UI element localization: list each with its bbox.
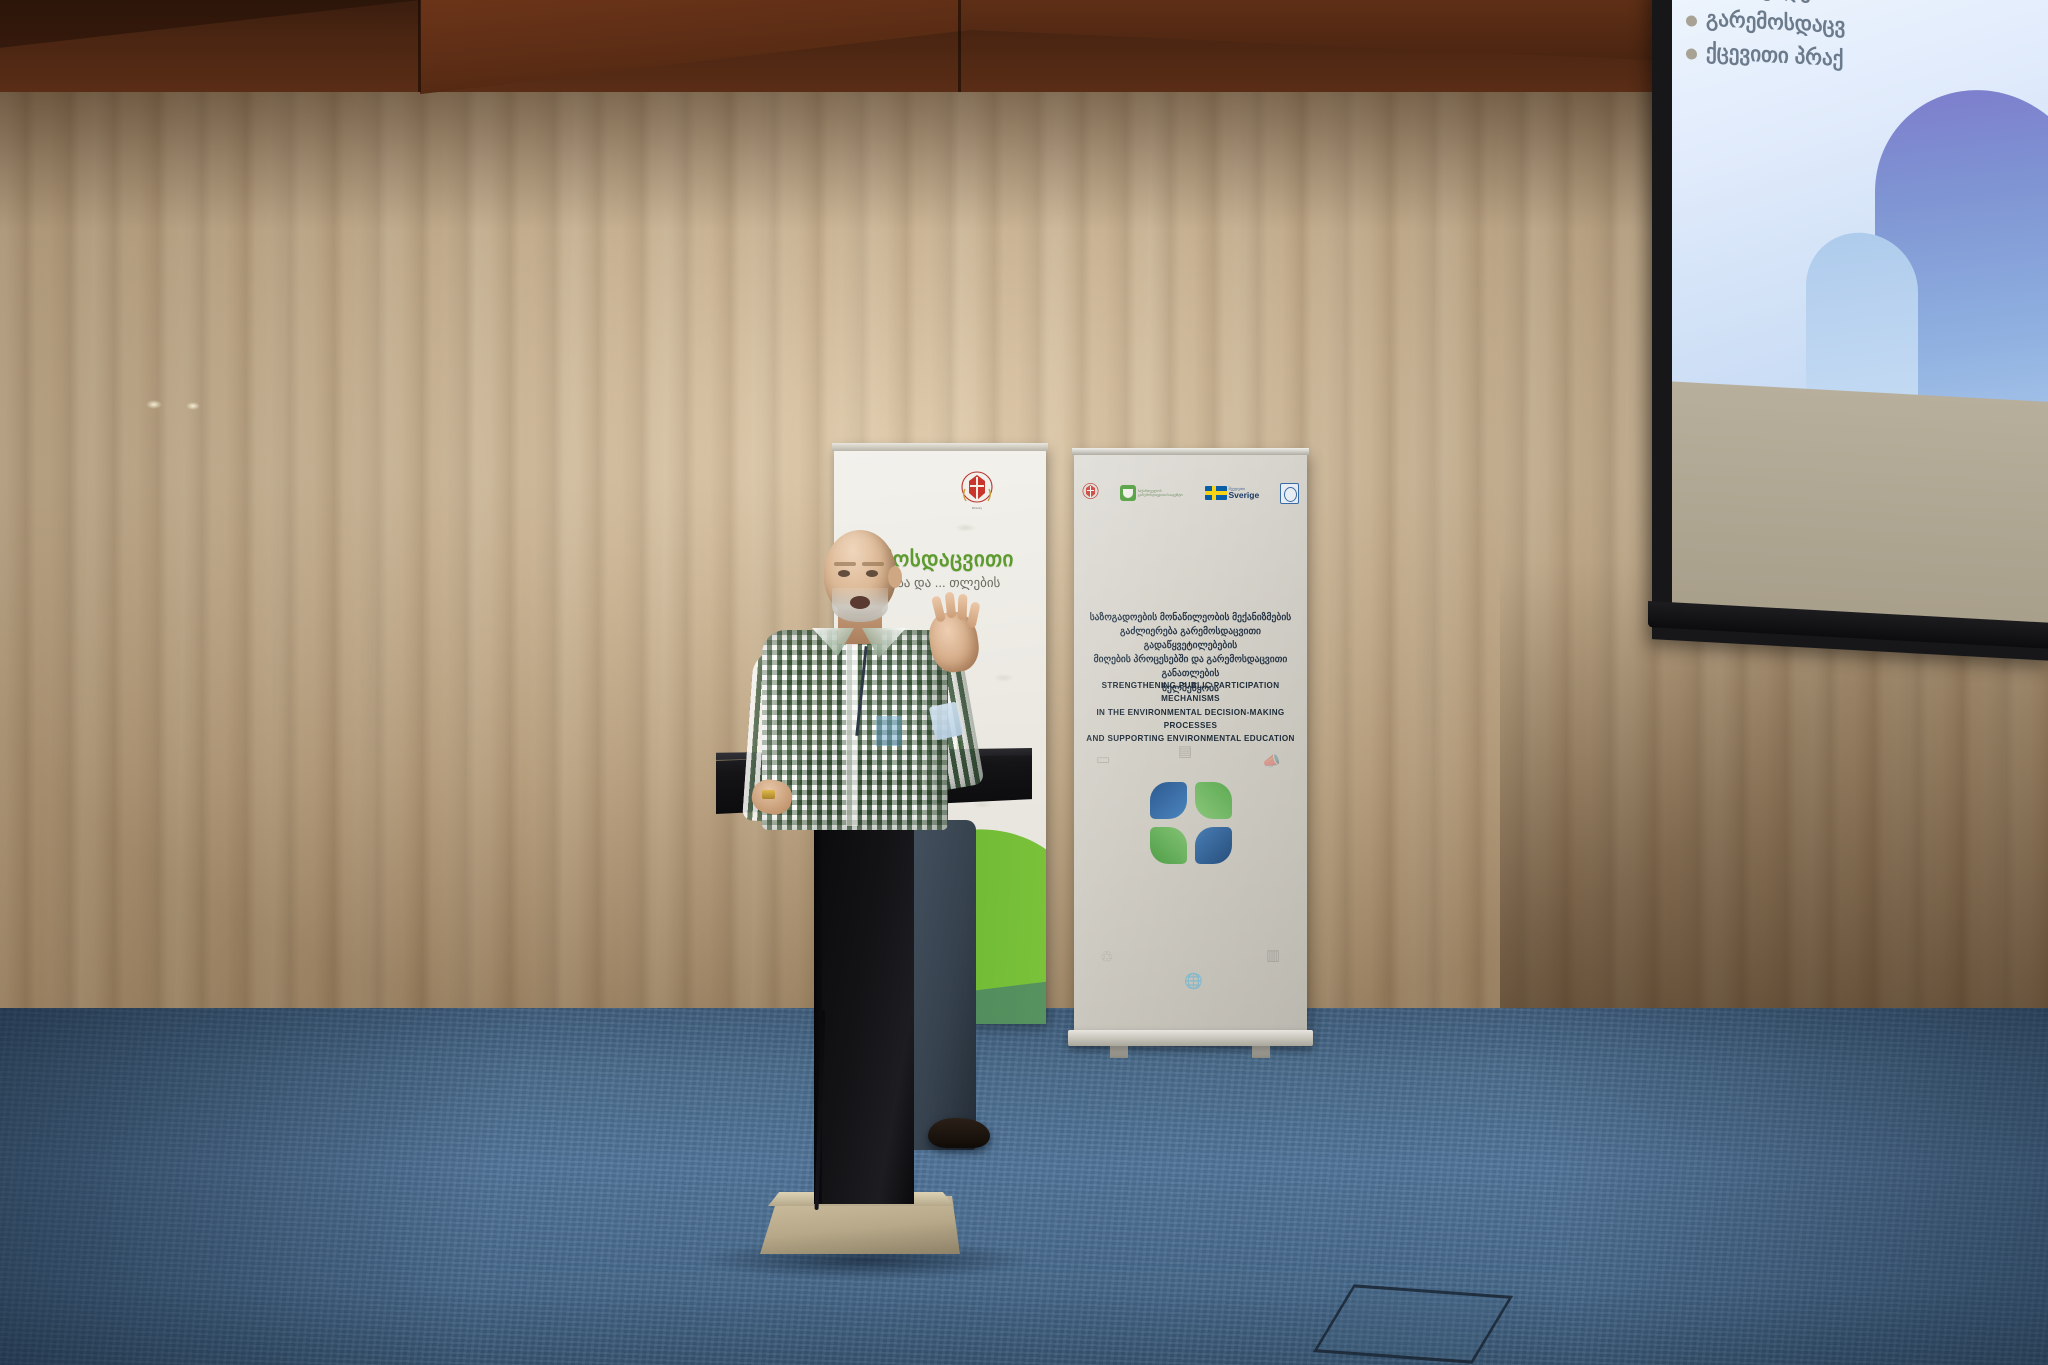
georgia-coat-of-arms-icon: Ministry — [960, 469, 994, 511]
slide-bullet-list: დამოკიდე გარემოსდაცვ ქცევითი პრაქ — [1686, 0, 2048, 92]
speaker-brow-left — [834, 562, 856, 566]
podium-column — [822, 784, 914, 1204]
svg-text:Ministry: Ministry — [972, 506, 983, 510]
banner-right: საქართველოს გარემოსდაცვითი სააგენტო შვედ… — [1074, 452, 1307, 1036]
curtain-glint-1 — [146, 400, 162, 409]
slide-bullet-text: დამოკიდე — [1706, 0, 1811, 5]
slide-bullet-text: გარემოსდაცვ — [1706, 6, 1845, 40]
curtain-glint-2 — [186, 402, 200, 410]
speaker-mouth — [850, 596, 870, 609]
speaker-ear — [888, 566, 902, 588]
banner-right-foot-left — [1110, 1044, 1128, 1058]
banner-left-top-rail — [832, 443, 1048, 451]
water-bottle-label — [876, 716, 902, 746]
bullet-dot-icon — [1686, 15, 1697, 27]
conference-hall-photo: დამოკიდე გარემოსდაცვ ქცევითი პრაქ — [0, 0, 2048, 1365]
presentation-slide: დამოკიდე გარემოსდაცვ ქცევითი პრაქ — [1672, 0, 2048, 409]
speaker-ring — [762, 790, 775, 799]
speaker-eye-right — [866, 570, 878, 577]
speaker-finger-3 — [958, 594, 968, 620]
banner-right-base — [1068, 1030, 1313, 1046]
floor-shadow-left — [0, 1008, 700, 1365]
banner-right-top-rail — [1072, 448, 1309, 455]
bullet-dot-icon — [1686, 48, 1697, 60]
banner-right-foot-right — [1252, 1044, 1270, 1058]
speaker-eye-left — [838, 570, 850, 577]
speaker-trousers — [910, 820, 976, 1150]
projection-screen-surface: დამოკიდე გარემოსდაცვ ქცევითი პრაქ — [1672, 0, 2048, 629]
slide-arch-shape-small — [1806, 230, 1918, 409]
ceiling-seam-left — [418, 0, 421, 92]
screen-blank-area — [1672, 381, 2048, 628]
ceiling-seam-right — [958, 0, 961, 92]
banner-right-sheen — [1074, 452, 1307, 1036]
slide-bullet-text: ქცევითი პრაქ — [1706, 39, 1843, 72]
speaker-shoe — [928, 1118, 990, 1148]
speaker-brow-right — [862, 562, 884, 566]
